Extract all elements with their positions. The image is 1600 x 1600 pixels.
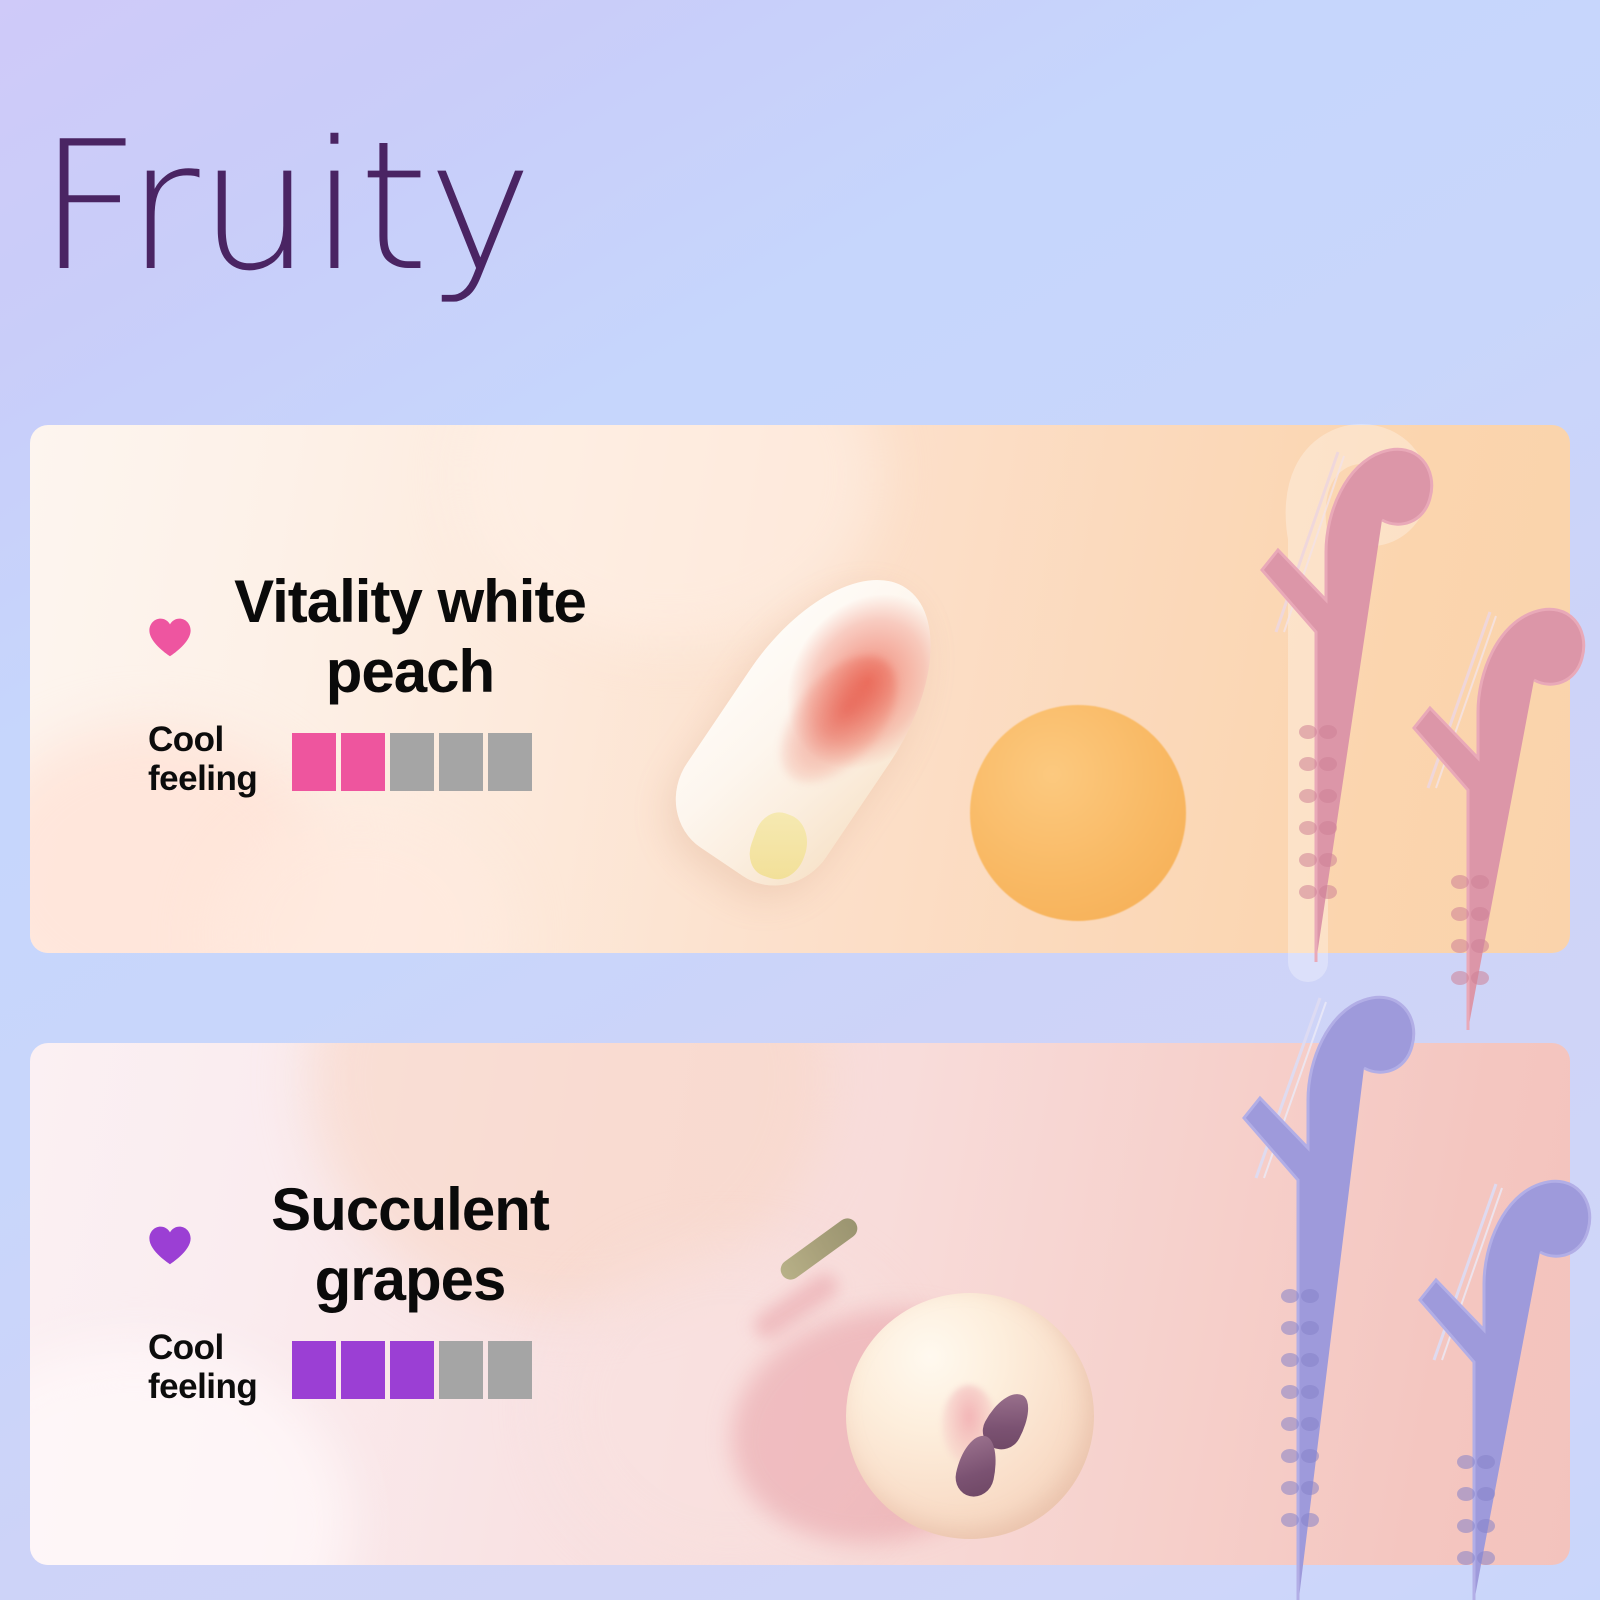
- peach-blush: [757, 634, 919, 804]
- rating-label: Cool feeling: [148, 1328, 274, 1406]
- flavor-title: Vitality white peach: [210, 567, 610, 706]
- peach-slice-shape: [652, 541, 976, 909]
- rating-block: [488, 1341, 532, 1399]
- grape-core: [942, 1385, 996, 1465]
- heart-icon: [148, 1223, 192, 1267]
- grape-stem-shadow: [749, 1268, 843, 1343]
- rating-blocks: [292, 733, 532, 791]
- rating-block: [341, 733, 385, 791]
- rating-label: Cool feeling: [148, 720, 274, 798]
- decorative-blob: [210, 805, 510, 953]
- rating-block: [439, 1341, 483, 1399]
- peach-pit: [743, 806, 816, 886]
- rating-blocks: [292, 1341, 532, 1399]
- grape-shadow: [709, 1282, 1050, 1565]
- grape-stem: [777, 1214, 862, 1283]
- heart-icon: [148, 615, 192, 659]
- rating-block: [292, 733, 336, 791]
- floss-pick-purple-small: [1376, 1132, 1600, 1600]
- grape-half: [846, 1293, 1094, 1539]
- rating-block: [390, 1341, 434, 1399]
- floss-pick-pink-small: [1372, 470, 1600, 1030]
- cool-feeling-rating-2: Cool feeling: [148, 1328, 568, 1406]
- rating-block: [390, 733, 434, 791]
- orange-accent-circle: [970, 705, 1186, 921]
- flavor-info-group-2: Succulent grapes Cool feeling: [148, 1175, 568, 1407]
- cool-feeling-rating-1: Cool feeling: [148, 720, 568, 798]
- rating-block: [292, 1341, 336, 1399]
- grape-seed: [976, 1386, 1038, 1457]
- page-title: Fruity: [38, 118, 532, 296]
- rating-block: [439, 733, 483, 791]
- product-flavor-page: Fruity Vitality white peach Cool feeling: [0, 0, 1600, 1600]
- rating-block: [488, 733, 532, 791]
- rating-block: [341, 1341, 385, 1399]
- grape-seed: [952, 1432, 1002, 1501]
- flavor-info-group-1: Vitality white peach Cool feeling: [148, 567, 568, 799]
- flavor-title: Succulent grapes: [210, 1175, 610, 1314]
